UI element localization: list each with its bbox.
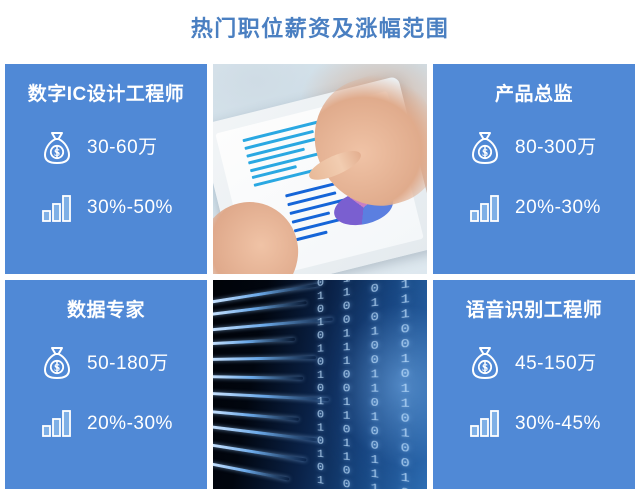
money-bag-icon: S [467, 129, 503, 167]
money-bag-icon: S [467, 344, 503, 382]
salary-row: S 45-150万 [467, 344, 597, 382]
salary-value: 45-150万 [515, 354, 597, 373]
job-stats: S 45-150万 30%-45% [467, 344, 601, 442]
growth-row: 30%-45% [467, 404, 601, 442]
job-stats: S 30-60万 30%-50% [39, 129, 173, 227]
salary-row: S 50-180万 [39, 344, 169, 382]
job-title: 数据专家 [67, 300, 145, 323]
binary-data-photo: 1 0 1 1 0 0 1 0 0 1 1 0 1 0 1 1 1 1 0 1 … [213, 280, 427, 490]
bar-chart-icon [467, 189, 503, 227]
tablet-analytics-photo [213, 64, 427, 274]
growth-row: 20%-30% [467, 189, 601, 227]
growth-value: 30%-45% [515, 414, 601, 433]
binary-digits: 1 0 1 1 0 0 1 0 0 1 1 0 1 0 1 1 1 1 0 1 … [213, 280, 427, 490]
job-title: 数字IC设计工程师 [28, 84, 185, 107]
job-title: 产品总监 [495, 84, 573, 107]
job-stats: S 80-300万 20%-30% [467, 129, 601, 227]
money-bag-icon: S [39, 129, 75, 167]
job-card-top-right[interactable]: 产品总监 S 80-300万 [433, 64, 635, 274]
bar-chart-icon [467, 404, 503, 442]
growth-value: 20%-30% [87, 414, 173, 433]
salary-value: 80-300万 [515, 138, 597, 157]
job-title: 语音识别工程师 [466, 300, 603, 323]
growth-row: 30%-50% [39, 189, 173, 227]
salary-row: S 80-300万 [467, 129, 597, 167]
growth-value: 30%-50% [87, 198, 173, 217]
salary-value: 50-180万 [87, 354, 169, 373]
salary-row: S 30-60万 [39, 129, 158, 167]
job-card-top-left[interactable]: 数字IC设计工程师 S 30-60万 [5, 64, 207, 274]
job-stats: S 50-180万 20%-30% [39, 344, 173, 442]
bar-chart-icon [39, 404, 75, 442]
content-grid: 数字IC设计工程师 S 30-60万 [5, 64, 635, 489]
title-bar: 热门职位薪资及涨幅范围 [0, 0, 640, 58]
infographic-page: 热门职位薪资及涨幅范围 数字IC设计工程师 S 3 [0, 0, 640, 494]
money-bag-icon: S [39, 344, 75, 382]
growth-row: 20%-30% [39, 404, 173, 442]
bar-chart-icon [39, 189, 75, 227]
salary-value: 30-60万 [87, 138, 158, 157]
page-title: 热门职位薪资及涨幅范围 [191, 18, 450, 40]
job-card-bottom-left[interactable]: 数据专家 S 50-180万 [5, 280, 207, 490]
growth-value: 20%-30% [515, 198, 601, 217]
job-card-bottom-right[interactable]: 语音识别工程师 S 45-150万 [433, 280, 635, 490]
